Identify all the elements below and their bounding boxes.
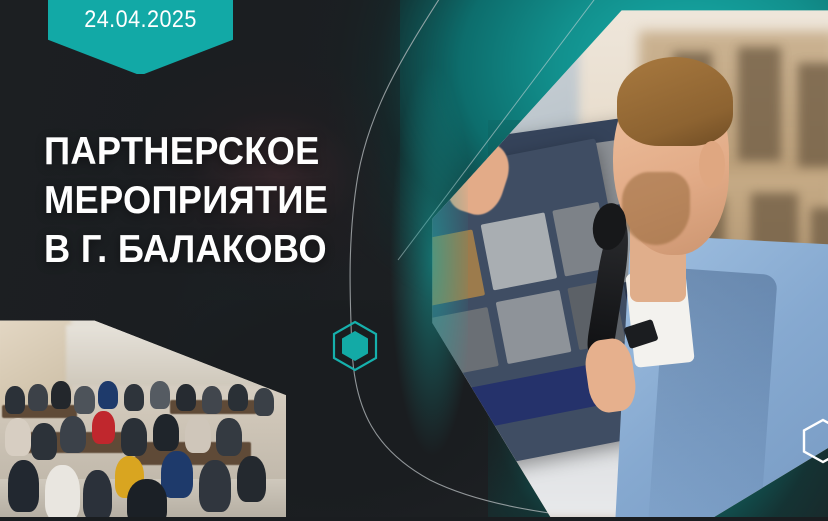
page-title: ПАРТНЕРСКОЕ МЕРОПРИЯТИЕ В Г. БАЛАКОВО xyxy=(44,127,374,274)
event-banner: 24.04.2025 ПАРТНЕРСКОЕ МЕРОПРИЯТИЕ В Г. … xyxy=(0,0,828,521)
date-label: 24.04.2025 xyxy=(84,6,197,34)
bottom-edge xyxy=(0,517,828,521)
title-line-2: МЕРОПРИЯТИЕ xyxy=(44,176,351,225)
hexagon-outline-icon xyxy=(800,418,828,464)
title-line-1: ПАРТНЕРСКОЕ xyxy=(44,127,351,176)
title-line-3: В Г. БАЛАКОВО xyxy=(44,225,351,274)
date-badge-text-wrap: 24.04.2025 xyxy=(48,0,233,74)
hexagon-marker-icon xyxy=(329,320,381,372)
